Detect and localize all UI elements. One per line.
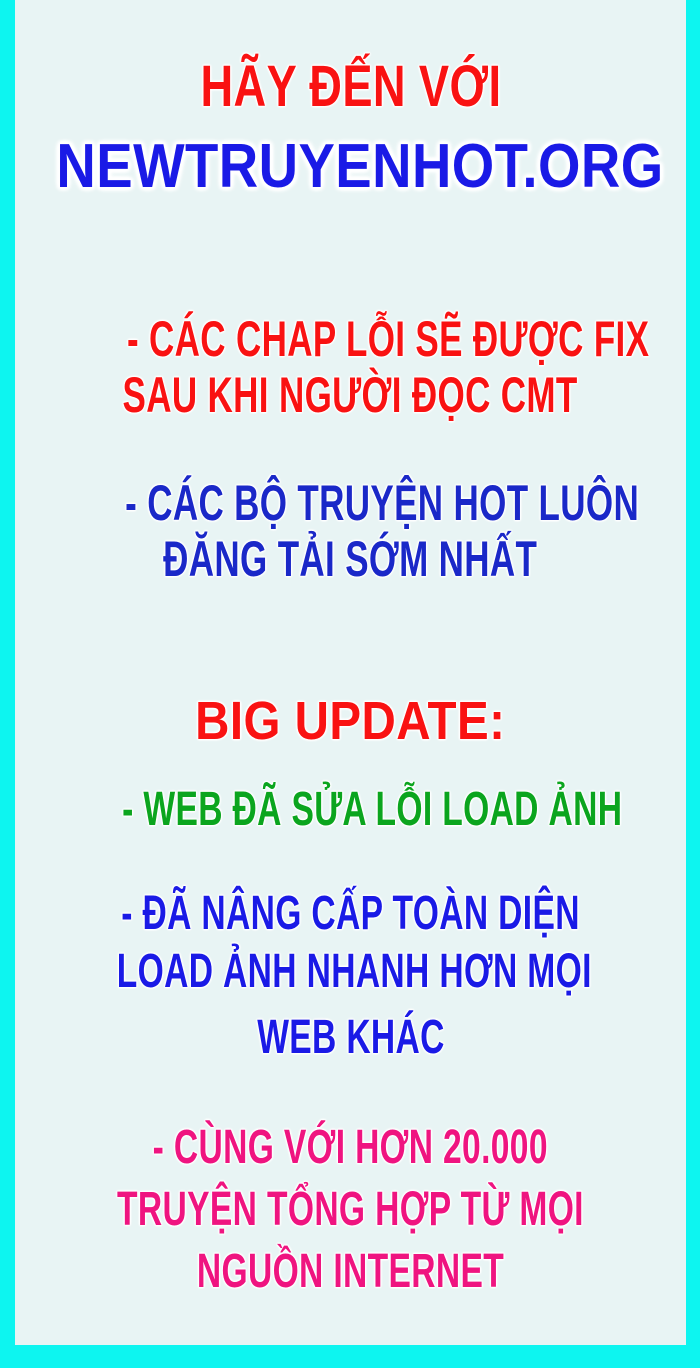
site-name-headline[interactable]: NEWTRUYENHOT.ORG xyxy=(15,136,686,198)
update-full-upgrade-line-2-text: LOAD ẢNH NHANH HƠN MỌI xyxy=(117,948,592,996)
update-full-upgrade-line-3: WEB KHÁC xyxy=(15,1014,686,1062)
notice-hot-series-line-1-text: - CÁC BỘ TRUYỆN HOT LUÔN xyxy=(125,478,639,528)
update-series-count-line-1: - CÙNG VỚI HƠN 20.000 xyxy=(15,1124,686,1172)
update-full-upgrade-line-3-text: WEB KHÁC xyxy=(257,1014,445,1062)
update-image-load-fixed-line-1-text: - WEB ĐÃ SỬA LỖI LOAD ẢNH xyxy=(122,786,622,834)
update-full-upgrade-line-1-text: - ĐÃ NÂNG CẤP TOÀN DIỆN xyxy=(121,890,580,938)
update-series-count-line-3: NGUỒN INTERNET xyxy=(15,1248,686,1296)
update-series-count-line-3-text: NGUỒN INTERNET xyxy=(197,1248,504,1296)
promo-banner: HÃY ĐẾN VỚI NEWTRUYENHOT.ORG - CÁC CHAP … xyxy=(0,0,700,1368)
invite-headline-text: HÃY ĐẾN VỚI xyxy=(200,58,501,116)
update-series-count-line-1-text: - CÙNG VỚI HƠN 20.000 xyxy=(153,1124,548,1172)
notice-hot-series-line-2: ĐĂNG TẢI SỚM NHẤT xyxy=(15,534,686,584)
notice-hot-series-line-2-text: ĐĂNG TẢI SỚM NHẤT xyxy=(163,534,537,584)
update-series-count-line-2: TRUYỆN TỔNG HỢP TỪ MỌI xyxy=(15,1186,686,1234)
invite-headline: HÃY ĐẾN VỚI xyxy=(15,58,686,116)
update-full-upgrade-line-1: - ĐÃ NÂNG CẤP TOÀN DIỆN xyxy=(15,890,686,938)
update-full-upgrade-line-2: LOAD ẢNH NHANH HƠN MỌI xyxy=(15,948,686,996)
notice-hot-series-line-1: - CÁC BỘ TRUYỆN HOT LUÔN xyxy=(15,478,686,528)
notice-chapter-fix-line-2: SAU KHI NGƯỜI ĐỌC CMT xyxy=(15,370,686,420)
update-image-load-fixed-line-1: - WEB ĐÃ SỬA LỖI LOAD ẢNH xyxy=(15,786,686,834)
big-update-heading: BIG UPDATE: xyxy=(15,694,686,748)
update-series-count-line-2-text: TRUYỆN TỔNG HỢP TỪ MỌI xyxy=(117,1186,584,1234)
notice-chapter-fix-line-2-text: SAU KHI NGƯỜI ĐỌC CMT xyxy=(123,370,578,420)
big-update-heading-text: BIG UPDATE: xyxy=(195,694,505,748)
notice-chapter-fix-line-1: - CÁC CHAP LỖI SẼ ĐƯỢC FIX xyxy=(15,314,686,364)
banner-stage: HÃY ĐẾN VỚI NEWTRUYENHOT.ORG - CÁC CHAP … xyxy=(15,0,686,1345)
notice-chapter-fix-line-1-text: - CÁC CHAP LỖI SẼ ĐƯỢC FIX xyxy=(127,314,649,364)
site-name-text: NEWTRUYENHOT.ORG xyxy=(56,136,663,198)
